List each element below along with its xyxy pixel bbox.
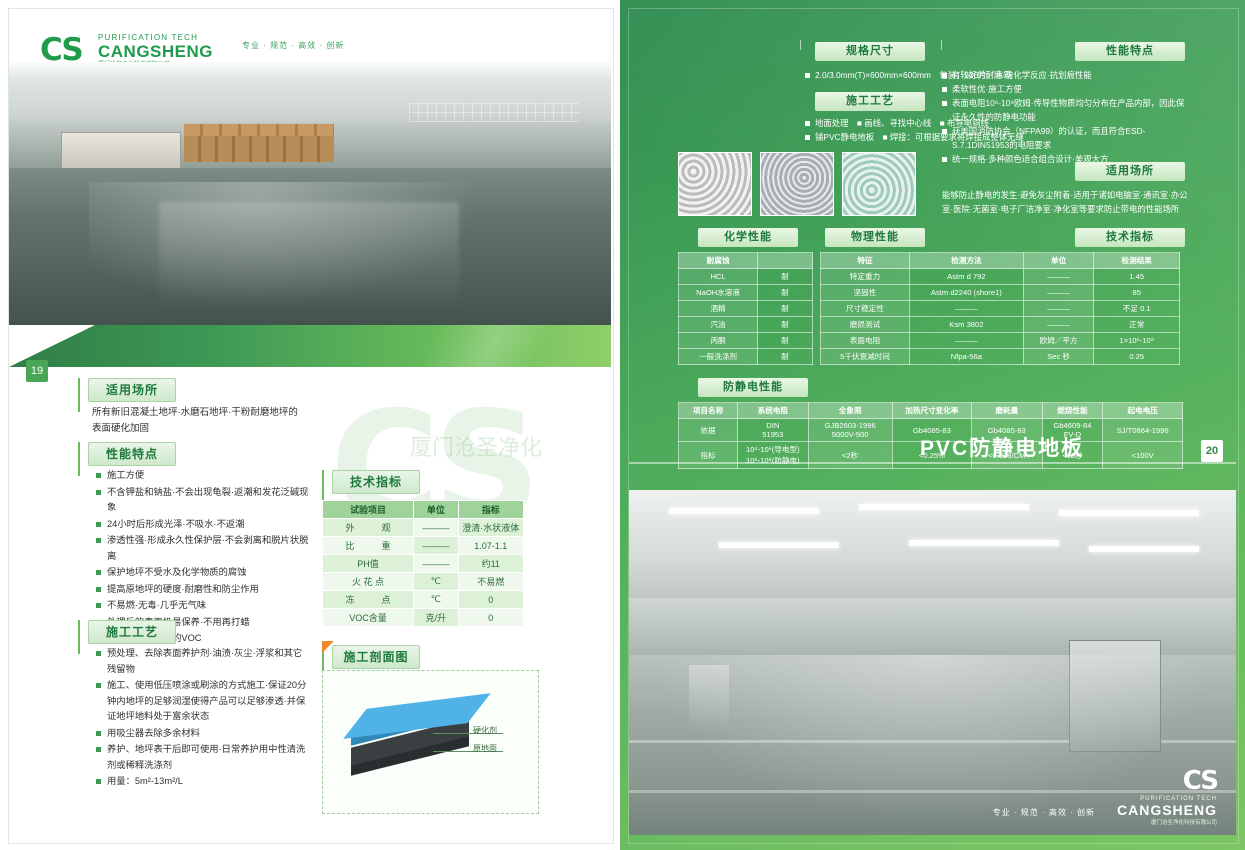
list-item: 不含钾盐和钠盐·不会出现龟裂·返潮和发花泛碱现象 <box>96 485 311 516</box>
physical-table: 特征 检测方法 单位 检测结果 特定重力Astm d 792———1.45 坚固… <box>820 252 1180 365</box>
list-item: 提高原地坪的硬度·耐磨性和防尘作用 <box>96 582 311 598</box>
table-header-row: 试验项目 单位 指标 <box>323 501 524 519</box>
list-item: 养护、地坪表干后即可使用·日常养护用中性清洗剂或稀释洗涤剂 <box>96 742 308 773</box>
left-page: CS PURIFICATION TECH CANGSHENG 厦门沧圣净化科技有… <box>0 0 620 850</box>
list-item: 柔软性优·施工方便 <box>942 82 1192 96</box>
list-item: 表面电阻10⁶-10⁹欧姆·传导性物质均匀分布在产品内部，因此保证永久性的防静电… <box>942 96 1192 124</box>
section-heading-diagram: 施工剖面图 <box>332 645 420 669</box>
brochure-page: CS PURIFICATION TECH CANGSHENG 厦门沧圣净化科技有… <box>0 0 1245 850</box>
table-row: 外 观 ——— 澄清·水状液体 <box>323 519 524 537</box>
left-page-number: 19 <box>26 360 48 382</box>
color-swatch-1 <box>678 152 752 216</box>
section-heading-tech: 技术指标 <box>1075 228 1185 247</box>
list-item: 用吸尘器去除多余材料 <box>96 726 308 742</box>
list-item: 施工、使用低压喷涂或刷涂的方式施工·保证20分钟内地坪的足够润湿使得产品可以足够… <box>96 678 308 725</box>
right-slogan: 专业 · 规范 · 高效 · 创新 <box>993 807 1095 818</box>
list-item: 预处理、去除表面养护剂·油渍·灰尘·浮浆和其它残留物 <box>96 646 308 677</box>
logo-slogan: 专业 · 规范 · 高效 · 创新 <box>242 40 344 51</box>
process-list: 预处理、去除表面养护剂·油渍·灰尘·浮浆和其它残留物 施工、使用低压喷涂或刷涂的… <box>96 646 308 791</box>
logo-name-en: CANGSHENG <box>1117 802 1217 818</box>
applicable-text: 所有新旧混凝土地坪·水磨石地坪·干粉耐磨地坪的表面硬化加固 <box>92 405 307 437</box>
list-item: 保护地坪不受水及化学物质的腐蚀 <box>96 565 311 581</box>
table-row: 冻 点 ℃ 0 <box>323 591 524 609</box>
table-row: 5千伏衰减时间Nfpa-56aSec 秒0.25 <box>821 349 1180 365</box>
right-logo: CS PURIFICATION TECH CANGSHENG 厦门沧圣净化科技有… <box>1117 766 1217 826</box>
spec-table: 试验项目 单位 指标 外 观 ——— 澄清·水状液体 比 重 ——— 1.07-… <box>322 500 524 627</box>
table-row: 磨损测试Ksm 3802———正常 <box>821 317 1180 333</box>
logo-name-cn: 厦门沧圣净化科技有限公司 <box>1117 818 1217 826</box>
list-item: 渗透性强·形成永久性保护层·不会剥离和脱片状脱离 <box>96 533 311 564</box>
watermark-text: 厦门沧圣净化 <box>410 430 542 462</box>
table-header-row: 项目名称 系统电阻 全象限 加热尺寸变化率 磨耗量 燃烧性能 起电电压 <box>679 403 1183 419</box>
section-heading-applicable: 适用场所 <box>88 378 176 402</box>
section-heading-scene: 适用场所 <box>1075 162 1185 181</box>
chemical-table: 耐腐蚀 HCL耐 NaOH水溶液耐 酒精耐 汽油耐 丙酮耐 一般洗涤剂耐 <box>678 252 813 365</box>
table-row: 一般洗涤剂耐 <box>679 349 813 365</box>
section-heading-physical: 物理性能 <box>825 228 925 247</box>
list-item: 用量：5m²-13m²/L <box>96 774 308 790</box>
cross-section-diagram: 硬化剂 原地面 <box>322 670 539 814</box>
table-row: 坚固性Astm d2240 (shore1)———85 <box>821 285 1180 301</box>
left-photo-epoxy-floor <box>9 62 611 327</box>
section-heading-process: 施工工艺 <box>88 620 176 644</box>
table-row: VOC含量 克/升 0 <box>323 609 524 627</box>
left-title-band <box>9 325 611 367</box>
table-row: 丙酮耐 <box>679 333 813 349</box>
table-row: 特定重力Astm d 792———1.45 <box>821 269 1180 285</box>
section-heading-antistatic: 防静电性能 <box>698 378 808 397</box>
section-heading-chemical: 化学性能 <box>698 228 798 247</box>
diagram-label-bottom: 原地面 <box>473 743 497 754</box>
section-heading-features: 性能特点 <box>88 442 176 466</box>
right-page: 规格尺寸 2.0/3.0mm(T)×600mm×600mm 包装：500片／木箱… <box>620 0 1245 850</box>
list-item: 24小时后形成光泽·不吸水·不返潮 <box>96 517 311 533</box>
table-row: NaOH水溶液耐 <box>679 285 813 301</box>
table-header-row: 特征 检测方法 单位 检测结果 <box>821 253 1180 269</box>
table-row: 比 重 ——— 1.07-1.1 <box>323 537 524 555</box>
table-row: 尺寸稳定性——————不足 0.1 <box>821 301 1180 317</box>
color-swatch-2 <box>760 152 834 216</box>
scene-text: 能够防止静电的发生·避免灰尘附着·适用于诸如电脑室·通讯室·办公室·医院·无菌室… <box>942 188 1192 216</box>
table-row: HCL耐 <box>679 269 813 285</box>
performance-list: 有较好的耐磨·防化学反应·抗划痕性能 柔软性优·施工方便 表面电阻10⁶-10⁹… <box>942 68 1192 166</box>
section-heading-spec-table: 技术指标 <box>332 470 420 494</box>
table-row: 火 花 点 ℃ 不易燃 <box>323 573 524 591</box>
list-item: 有较好的耐磨·防化学反应·抗划痕性能 <box>942 68 1192 82</box>
section-heading-construction: 施工工艺 <box>815 92 925 111</box>
right-page-number: 20 <box>1201 440 1223 462</box>
list-item: 施工方便 <box>96 468 311 484</box>
list-item: 不易燃·无毒·几乎无气味 <box>96 598 311 614</box>
table-row: PH值 ——— 约11 <box>323 555 524 573</box>
table-row: 酒精耐 <box>679 301 813 317</box>
left-page-title: 混凝土表面硬化剂 <box>100 10 268 37</box>
logo-mark: CS <box>1117 766 1217 796</box>
color-swatch-3 <box>842 152 916 216</box>
table-row: 表面电阻———欧姆／平方1×10⁶-10⁹ <box>821 333 1180 349</box>
section-heading-performance: 性能特点 <box>1075 42 1185 61</box>
table-header-row: 耐腐蚀 <box>679 253 813 269</box>
right-page-title: PVC防静电地板 <box>920 432 1084 462</box>
diagram-label-top: 硬化剂 <box>473 725 497 736</box>
list-item: 获美国消防协会（NFPA99）的认证，而且符合ESD-S.7.1DIN51953… <box>942 124 1192 152</box>
table-row: 汽油耐 <box>679 317 813 333</box>
